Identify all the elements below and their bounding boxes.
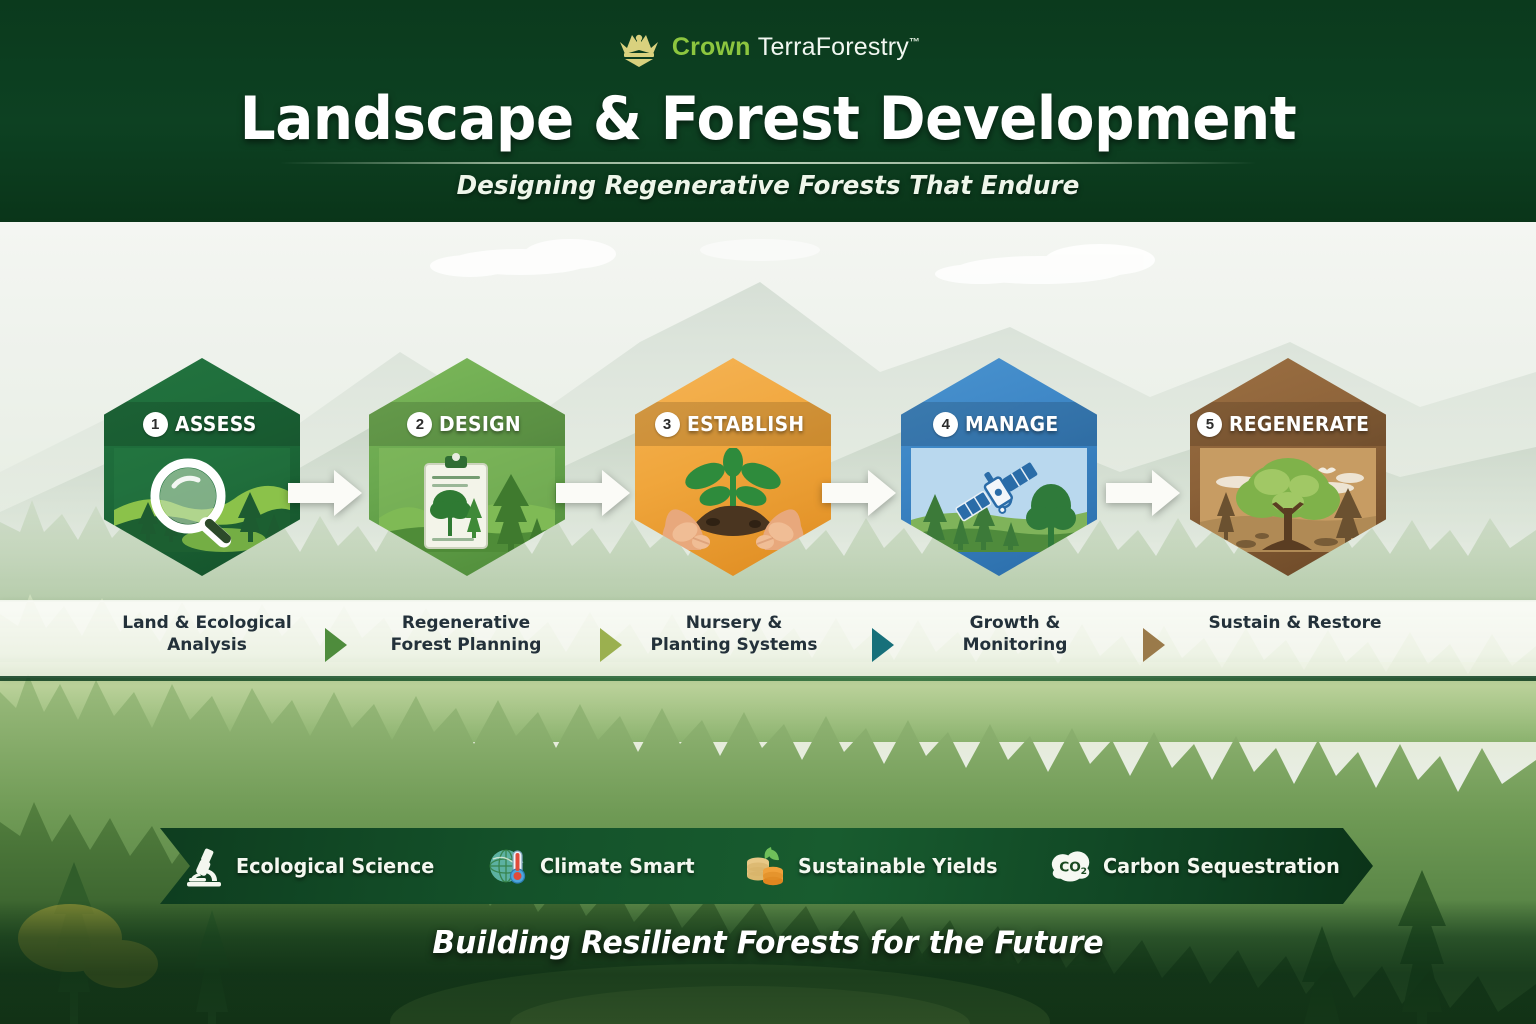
stage-number-badge: 3 (655, 412, 680, 437)
satellite-forest-icon (911, 448, 1087, 552)
svg-text:2: 2 (1080, 867, 1086, 877)
right-arrow-connector-icon (556, 470, 630, 516)
svg-text:CO: CO (1059, 859, 1081, 875)
hands-seedling-icon (645, 448, 821, 552)
caption-regenerate: Sustain & Restore (1192, 612, 1398, 634)
feature-label: Carbon Sequestration (1103, 854, 1340, 878)
coins-leaf-icon (745, 845, 787, 887)
stage-header-establish: 3 ESTABLISH (635, 402, 831, 446)
brand-wordmark: Crown TerraForestry™ (672, 33, 920, 62)
stage-label-regenerate: REGENERATE (1229, 412, 1369, 436)
caption-line-2: Monitoring (912, 634, 1118, 656)
stage-hexagon-establish[interactable]: 3 ESTABLISH (635, 358, 831, 576)
stage-label-manage: MANAGE (965, 412, 1059, 436)
caption-line-2: Analysis (104, 634, 310, 656)
caption-line-2: Planting Systems (631, 634, 837, 656)
caption-separator-triangle-2 (600, 628, 622, 662)
brand-main-word: TerraForestry (758, 33, 909, 61)
caption-line-1: Regenerative (363, 612, 569, 634)
page-subtitle: Designing Regenerative Forests That Endu… (38, 171, 1497, 201)
right-arrow-connector-icon (288, 470, 362, 516)
clipboard-plan-icon (379, 448, 555, 552)
stage-label-design: DESIGN (439, 412, 521, 436)
feature-ecological-science[interactable]: Ecological Science (161, 828, 465, 904)
caption-line-1: Land & Ecological (104, 612, 310, 634)
feature-label: Climate Smart (540, 854, 695, 878)
stage-hexagon-assess[interactable]: 1 ASSESS (104, 358, 300, 576)
globe-thermometer-icon (487, 845, 529, 887)
crown-icon (616, 26, 662, 68)
footer-scrim (0, 900, 1536, 1024)
process-stages: 1 ASSESS (0, 358, 1536, 588)
caption-design: Regenerative Forest Planning (363, 612, 569, 657)
brand-crown-word: Crown (672, 33, 751, 61)
caption-separator-triangle-1 (325, 628, 347, 662)
infographic-canvas: Crown TerraForestry™ Landscape & Forest … (0, 0, 1536, 1024)
feature-carbon-sequestration[interactable]: CO 2 Carbon Sequestration (1028, 828, 1372, 904)
trademark-symbol: ™ (909, 36, 920, 48)
footer-tagline: Building Resilient Forests for the Futur… (31, 925, 1506, 961)
stage-header-regenerate: 5 REGENERATE (1190, 402, 1386, 446)
stage-header-manage: 4 MANAGE (901, 402, 1097, 446)
right-arrow-connector-icon (822, 470, 896, 516)
stage-header-assess: 1 ASSESS (104, 402, 300, 446)
caption-underline (0, 676, 1536, 681)
header-banner: Crown TerraForestry™ Landscape & Forest … (0, 0, 1536, 222)
stage-number-badge: 2 (407, 412, 432, 437)
caption-line-1: Sustain & Restore (1192, 612, 1398, 634)
caption-line-1: Growth & (912, 612, 1118, 634)
stage-number-badge: 4 (933, 412, 958, 437)
right-arrow-connector-icon (1106, 470, 1180, 516)
feature-label: Sustainable Yields (798, 854, 998, 878)
feature-climate-smart[interactable]: Climate Smart (465, 828, 723, 904)
stage-hexagon-design[interactable]: 2 DESIGN (369, 358, 565, 576)
brand-logo: Crown TerraForestry™ (0, 26, 1536, 68)
feature-sustainable-yields[interactable]: Sustainable Yields (723, 828, 1028, 904)
magnifying-glass-landscape-icon (114, 448, 290, 552)
stage-header-design: 2 DESIGN (369, 402, 565, 446)
co2-cloud-icon: CO 2 (1050, 845, 1092, 887)
caption-assess: Land & Ecological Analysis (104, 612, 310, 657)
caption-separator-triangle-4 (1143, 628, 1165, 662)
caption-manage: Growth & Monitoring (912, 612, 1118, 657)
caption-establish: Nursery & Planting Systems (631, 612, 837, 657)
stage-label-assess: ASSESS (175, 412, 257, 436)
page-title: Landscape & Forest Development (46, 84, 1490, 154)
title-divider (280, 162, 1256, 164)
caption-line-1: Nursery & (631, 612, 837, 634)
caption-separator-triangle-3 (872, 628, 894, 662)
stage-number-badge: 1 (143, 412, 168, 437)
mature-tree-icon (1200, 448, 1376, 552)
feature-label: Ecological Science (236, 854, 434, 878)
stage-label-establish: ESTABLISH (687, 412, 804, 436)
stage-number-badge: 5 (1197, 412, 1222, 437)
caption-line-2: Forest Planning (363, 634, 569, 656)
stage-hexagon-manage[interactable]: 4 MANAGE (901, 358, 1097, 576)
feature-bar: Ecological Science (160, 828, 1373, 904)
stage-hexagon-regenerate[interactable]: 5 REGENERATE (1190, 358, 1386, 576)
